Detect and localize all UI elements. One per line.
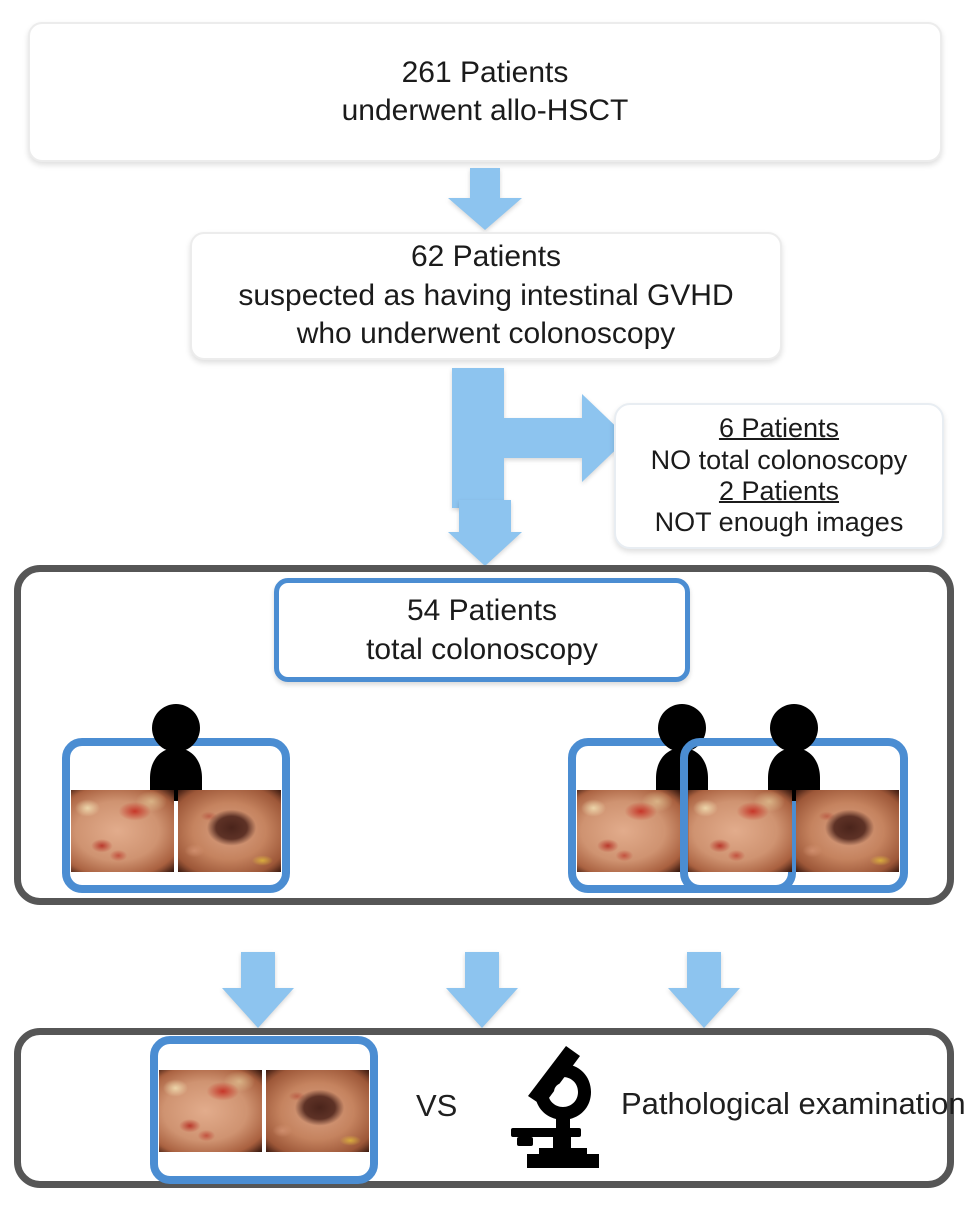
endoscopy-image-lumen <box>178 790 281 872</box>
arrow-down-icon-to-comparison-1 <box>222 952 294 1028</box>
box-included-line2: total colonoscopy <box>366 630 598 669</box>
arrow-shaft <box>241 952 275 990</box>
arrow-shaft <box>465 952 499 990</box>
endoscopy-image-mucosa <box>71 790 174 872</box>
arrow-head <box>448 198 522 230</box>
arrow-shaft <box>459 500 511 534</box>
box-cohort: 261 Patients underwent allo-HSCT <box>28 22 942 162</box>
endoscopy-image-pair <box>689 790 899 872</box>
vs-label: VS <box>416 1088 457 1124</box>
box-included: 54 Patients total colonoscopy <box>274 578 690 682</box>
box-excluded: 6 Patients NO total colonoscopy 2 Patien… <box>614 403 944 549</box>
patient-group <box>62 738 290 893</box>
patient-group <box>680 738 908 893</box>
pathology-label: Pathological examination <box>621 1086 966 1122</box>
arrow-branch-icon-exclusions <box>452 368 634 508</box>
endoscopy-image-lumen <box>796 790 899 872</box>
box-excluded-line1: 6 Patients <box>719 413 839 444</box>
endoscopy-image-mucosa <box>689 790 792 872</box>
arrow-head <box>446 988 518 1028</box>
box-included-line1: 54 Patients <box>407 591 557 630</box>
box-suspected-line3: who underwent colonoscopy <box>297 315 676 353</box>
box-cohort-line1: 261 Patients <box>402 54 569 92</box>
box-excluded-line3: 2 Patients <box>719 476 839 507</box>
box-suspected-line2: suspected as having intestinal GVHD <box>238 277 733 315</box>
flowchart-canvas: 261 Patients underwent allo-HSCT 62 Pati… <box>0 0 969 1212</box>
box-excluded-line2: NO total colonoscopy <box>651 445 908 476</box>
arrow-horizontal-shaft <box>492 418 590 458</box>
comparison-image-group <box>150 1036 378 1184</box>
endoscopy-image-pair <box>71 790 281 872</box>
arrow-head <box>668 988 740 1028</box>
arrow-shaft <box>687 952 721 990</box>
box-suspected: 62 Patients suspected as having intestin… <box>190 232 782 360</box>
arrow-down-icon-cohort-to-suspected <box>448 168 522 230</box>
arrow-head <box>222 988 294 1028</box>
microscope-icon <box>503 1042 623 1170</box>
endoscopy-image-mucosa <box>159 1070 262 1152</box>
box-suspected-line1: 62 Patients <box>411 238 561 276</box>
arrow-head <box>448 532 522 566</box>
box-excluded-line4: NOT enough images <box>655 507 904 538</box>
arrow-down-icon-to-comparison-3 <box>668 952 740 1028</box>
arrow-down-icon-to-comparison-2 <box>446 952 518 1028</box>
endoscopy-image-mucosa <box>577 790 680 872</box>
box-cohort-line2: underwent allo-HSCT <box>342 92 629 130</box>
arrow-down-icon-to-included <box>448 500 522 568</box>
endoscopy-image-pair <box>159 1070 369 1152</box>
endoscopy-image-lumen <box>266 1070 369 1152</box>
arrow-shaft <box>470 168 500 200</box>
